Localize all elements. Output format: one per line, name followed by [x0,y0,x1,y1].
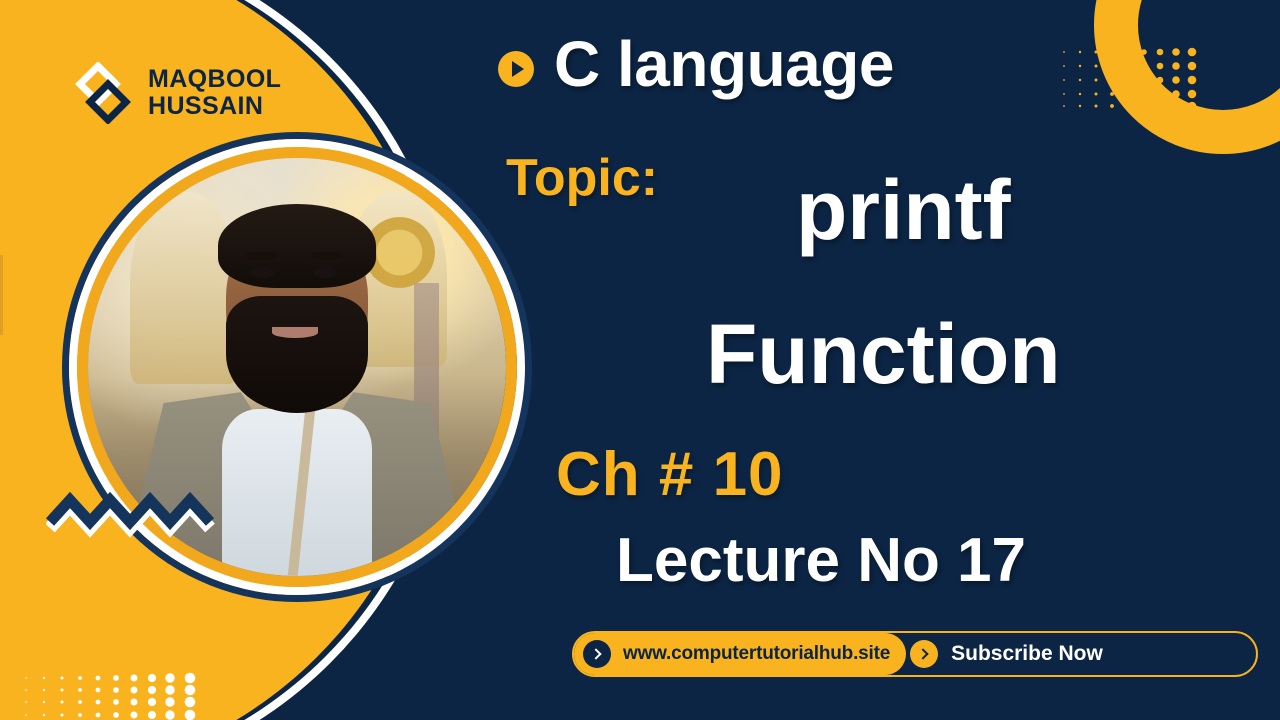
zigzag-decoration-icon [46,492,226,546]
photo-eye-right [314,267,337,278]
interlocking-diamonds-logo-icon [72,62,134,124]
website-link[interactable]: www.computertutorialhub.site [574,633,906,675]
chevron-right-glyph-subscribe [917,648,928,659]
cta-bar[interactable]: www.computertutorialhub.site Subscribe N… [572,631,1258,677]
play-circle-icon [498,51,534,87]
website-url: www.computertutorialhub.site [623,643,890,665]
course-title-row: C language [498,32,894,96]
topic-value: printf [796,168,1011,252]
photo-beard [226,296,368,413]
photo-brow-left [245,252,278,260]
play-triangle [512,61,524,77]
photo-brow-right [310,252,343,260]
brand-name: MAQBOOL HUSSAIN [148,66,281,120]
photo-eye-left [251,267,274,278]
brand-line-2: HUSSAIN [148,93,281,120]
lecture-label: Lecture No 17 [616,530,1026,592]
topic-value-secondary: Function [706,312,1061,396]
brand-line-1: MAQBOOL [148,65,281,93]
brand-logo: MAQBOOL HUSSAIN [72,62,281,124]
chevron-right-circle-icon-subscribe [910,640,938,668]
chevron-right-circle-icon [583,640,611,668]
chapter-label: Ch # 10 [556,444,784,506]
photo-hair [218,204,377,288]
course-title: C language [554,32,894,96]
dot-grid-bottom-left-icon [22,672,222,720]
subscribe-button[interactable]: Subscribe Now [884,633,1256,675]
thumbnail-canvas: MAQBOOL HUSSAIN [0,0,1280,720]
subscribe-label: Subscribe Now [951,642,1103,666]
chevron-right-glyph [590,648,601,659]
photo-arch-left [130,191,239,383]
